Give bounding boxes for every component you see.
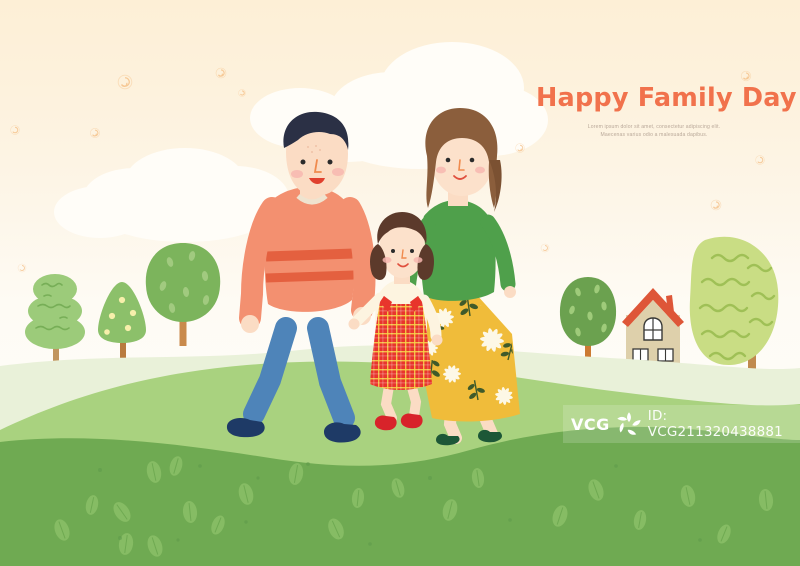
mother-eye-left [446, 158, 451, 163]
page-title: Happy Family Day [536, 86, 786, 112]
vcg-flower-icon [616, 411, 642, 437]
mother-eye-right [470, 158, 475, 163]
father-shoe-right [324, 422, 361, 442]
subtitle-line-1: Lorem ipsum dolor sit amet, consectetur … [559, 123, 749, 132]
daughter-hand-left [349, 319, 360, 330]
vcg-logo-text: VCG [571, 415, 610, 434]
illustration-canvas: Happy Family Day Lorem ipsum dolor sit a… [0, 0, 800, 566]
daughter-eye-left [391, 249, 395, 253]
daughter-hand-right [432, 335, 443, 346]
watermark-bar: VCG ID: VCG211320438881 [563, 405, 800, 443]
father-eye-right [328, 160, 333, 165]
daughter-eye-right [410, 249, 414, 253]
father-eye-left [301, 160, 306, 165]
daughter-dress [370, 296, 432, 390]
mother-hand-right [504, 286, 516, 298]
page-subtitle: Lorem ipsum dolor sit amet, consectetur … [559, 123, 749, 141]
title-block: Happy Family Day Lorem ipsum dolor sit a… [536, 86, 786, 140]
daughter-shoe-right [401, 413, 423, 428]
subtitle-line-2: Maecenas varius odio a malesuada dapibus… [559, 131, 749, 140]
father-hand-left [241, 315, 259, 333]
daughter-shoe-left [375, 415, 397, 430]
watermark-id: ID: VCG211320438881 [648, 408, 800, 440]
